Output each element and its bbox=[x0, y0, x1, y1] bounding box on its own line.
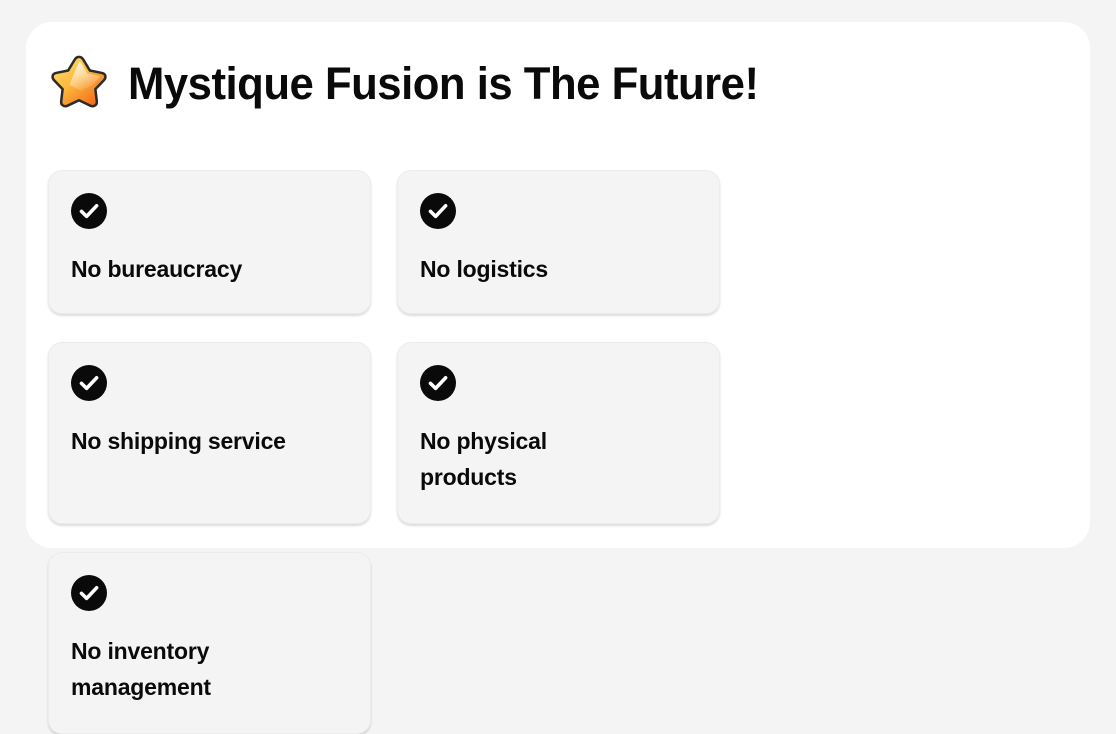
feature-card: No shipping service bbox=[48, 342, 371, 524]
feature-card-label: No inventory management bbox=[71, 633, 286, 705]
check-circle-icon bbox=[71, 193, 107, 229]
check-circle-icon bbox=[71, 365, 107, 401]
feature-card-label: No bureaucracy bbox=[71, 251, 286, 287]
star-icon bbox=[48, 52, 110, 114]
feature-card: No physical products bbox=[397, 342, 720, 524]
feature-card: No bureaucracy bbox=[48, 170, 371, 314]
feature-card: No inventory management bbox=[48, 552, 371, 734]
check-circle-icon bbox=[71, 575, 107, 611]
feature-panel: Mystique Fusion is The Future! No bureau… bbox=[26, 22, 1090, 548]
feature-card-label: No physical products bbox=[420, 423, 635, 495]
page-title: Mystique Fusion is The Future! bbox=[128, 61, 759, 106]
feature-card: No logistics bbox=[397, 170, 720, 314]
check-circle-icon bbox=[420, 193, 456, 229]
feature-card-grid: No bureaucracy No logistics No shipping … bbox=[48, 170, 1068, 734]
panel-header: Mystique Fusion is The Future! bbox=[48, 52, 778, 114]
check-circle-icon bbox=[420, 365, 456, 401]
feature-card-label: No shipping service bbox=[71, 423, 348, 459]
feature-card-label: No logistics bbox=[420, 251, 635, 287]
